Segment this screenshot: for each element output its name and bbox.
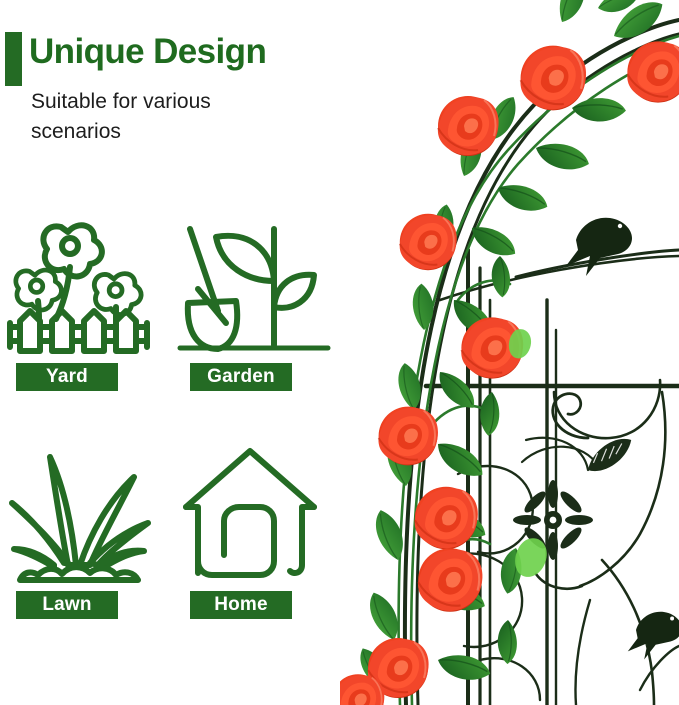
flowers-fence-icon [6,215,166,361]
shovel-plant-icon [176,215,336,361]
scenario-label-home: Home [190,591,292,619]
scenario-card-yard[interactable]: Yard [6,215,166,405]
scenario-card-lawn[interactable]: Lawn [6,443,166,633]
product-photo [340,0,679,705]
header-block: Unique Design Suitable for various scena… [0,14,340,149]
scenario-icon-grid: Yard [0,215,340,635]
scenario-label-yard: Yard [16,363,118,391]
scenario-label-lawn: Lawn [16,591,118,619]
page-title: Unique Design [29,32,266,72]
left-info-panel: Unique Design Suitable for various scena… [0,0,340,705]
grass-tuft-icon [6,443,166,589]
house-outline-icon [176,443,336,589]
title-accent-bar [5,32,22,86]
scenario-card-garden[interactable]: Garden [176,215,336,405]
page-subtitle: Suitable for various scenarios [31,87,301,147]
product-feature-banner: Unique Design Suitable for various scena… [0,0,679,705]
scenario-card-home[interactable]: Home [176,443,336,633]
scenario-label-garden: Garden [190,363,292,391]
